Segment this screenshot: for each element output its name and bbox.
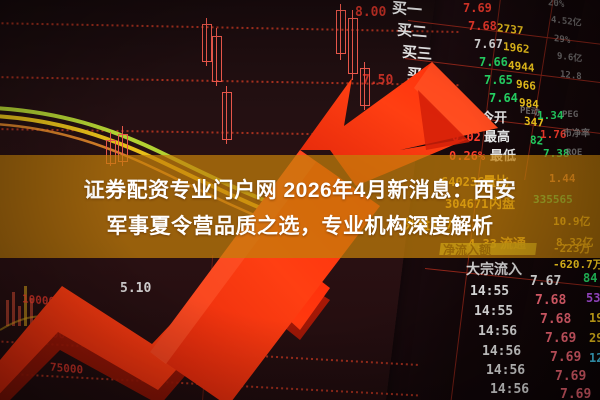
stock-market-banner: 8.00 7.50 7.00 100000 75000 75000 5.10 买… (0, 0, 600, 400)
caption-line-2: 军事夏令营品质之选，专业机构深度解析 (107, 210, 494, 240)
caption-line-1: 证券配资专业门户网 2026年4月新消息：西安 (84, 174, 517, 204)
caption-text-container: 证券配资专业门户网 2026年4月新消息：西安 军事夏令营品质之选，专业机构深度… (0, 155, 600, 258)
